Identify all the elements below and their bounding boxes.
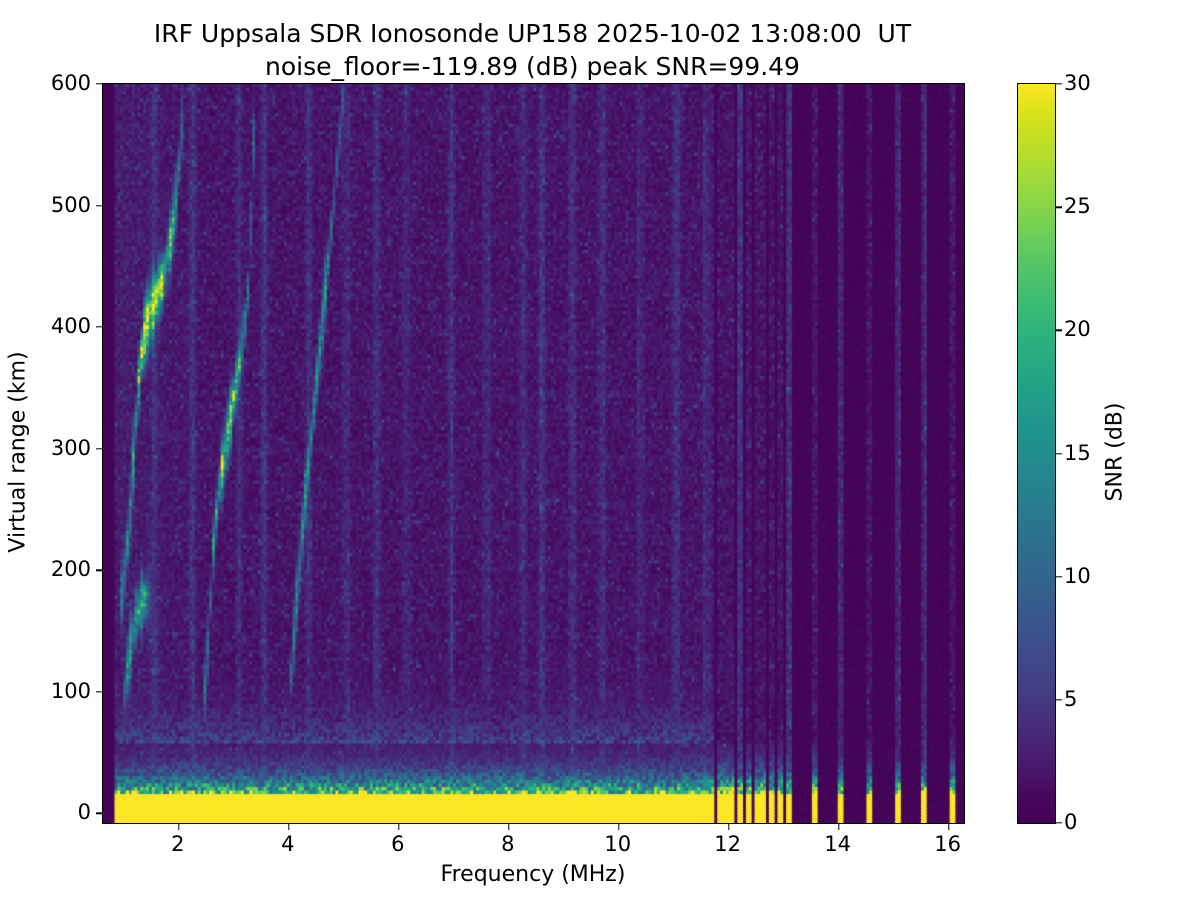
y-tick-label-400: 400: [51, 314, 91, 338]
figure-title: IRF Uppsala SDR Ionosonde UP158 2025-10-…: [0, 18, 1065, 83]
colorbar-tick-label-5: 5: [1064, 687, 1077, 711]
ionogram-heatmap: [103, 84, 964, 823]
x-tick-label-2: 2: [171, 832, 184, 856]
y-tick-mark: [96, 569, 103, 570]
colorbar-tick-label-30: 30: [1064, 71, 1091, 95]
colorbar-tick-label-0: 0: [1064, 810, 1077, 834]
x-axis-label: Frequency (MHz): [441, 862, 626, 887]
x-tick-mark: [288, 823, 289, 830]
y-tick-label-200: 200: [51, 557, 91, 581]
colorbar-gradient: [1018, 84, 1055, 823]
x-tick-label-16: 16: [934, 832, 961, 856]
colorbar-tick-mark: [1055, 453, 1062, 454]
y-axis-label: Virtual range (km): [6, 351, 31, 552]
ionogram-figure: IRF Uppsala SDR Ionosonde UP158 2025-10-…: [0, 0, 1200, 900]
colorbar-tick-label-10: 10: [1064, 564, 1091, 588]
colorbar-tick-label-15: 15: [1064, 441, 1091, 465]
y-tick-mark: [96, 448, 103, 449]
title-line-2: noise_floor=-119.89 (dB) peak SNR=99.49: [0, 51, 1065, 84]
x-tick-label-8: 8: [501, 832, 514, 856]
y-tick-label-300: 300: [51, 436, 91, 460]
y-tick-mark: [96, 83, 103, 84]
y-tick-mark: [96, 813, 103, 814]
title-line-1: IRF Uppsala SDR Ionosonde UP158 2025-10-…: [0, 18, 1065, 51]
colorbar-tick-mark: [1055, 576, 1062, 577]
x-tick-mark: [948, 823, 949, 830]
y-tick-mark: [96, 326, 103, 327]
x-tick-mark: [838, 823, 839, 830]
x-tick-mark: [398, 823, 399, 830]
x-tick-mark: [728, 823, 729, 830]
colorbar-label: SNR (dB): [1103, 403, 1128, 502]
x-tick-mark: [178, 823, 179, 830]
colorbar-tick-mark: [1055, 83, 1062, 84]
y-tick-mark: [96, 205, 103, 206]
x-tick-label-6: 6: [391, 832, 404, 856]
colorbar-tick-label-20: 20: [1064, 317, 1091, 341]
y-tick-mark: [96, 691, 103, 692]
colorbar-tick-label-25: 25: [1064, 194, 1091, 218]
colorbar-tick-mark: [1055, 822, 1062, 823]
colorbar-tick-mark: [1055, 206, 1062, 207]
x-tick-mark: [508, 823, 509, 830]
y-tick-label-600: 600: [51, 71, 91, 95]
colorbar-tick-mark: [1055, 699, 1062, 700]
colorbar: [1017, 83, 1056, 824]
y-tick-label-100: 100: [51, 679, 91, 703]
plot-area: [102, 83, 965, 824]
x-tick-label-14: 14: [824, 832, 851, 856]
x-tick-label-10: 10: [604, 832, 631, 856]
y-tick-label-500: 500: [51, 193, 91, 217]
y-tick-label-0: 0: [78, 800, 91, 824]
x-tick-label-12: 12: [714, 832, 741, 856]
x-tick-mark: [618, 823, 619, 830]
x-tick-label-4: 4: [281, 832, 294, 856]
colorbar-tick-mark: [1055, 330, 1062, 331]
